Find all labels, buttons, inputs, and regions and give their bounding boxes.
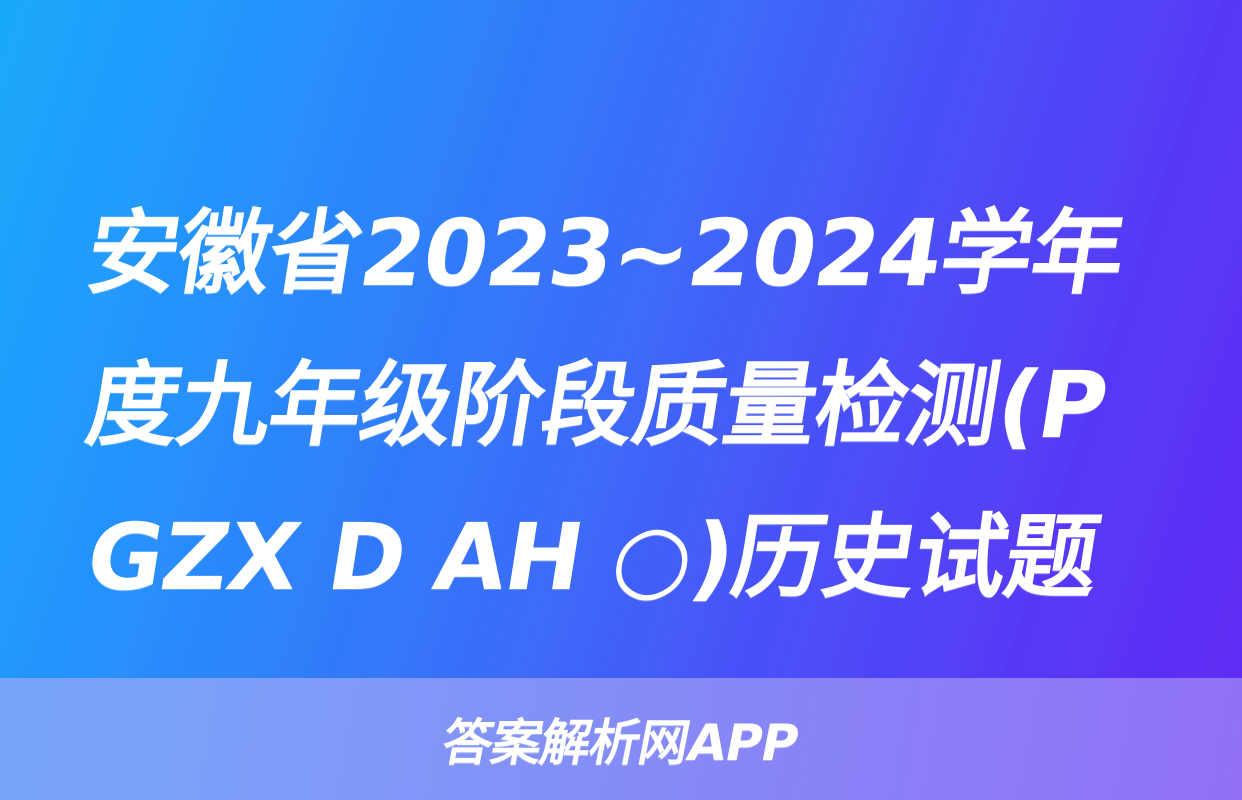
exam-title-card: 安徽省2023~2024学年 度九年级阶段质量检测(P GZX D AH ○)历… — [0, 0, 1242, 800]
title-line-2: 度九年级阶段质量检测(P — [76, 330, 1190, 482]
title-line-1: 安徽省2023~2024学年 — [76, 178, 1190, 330]
hero-gradient-panel: 安徽省2023~2024学年 度九年级阶段质量检测(P GZX D AH ○)历… — [0, 0, 1242, 678]
page-title: 安徽省2023~2024学年 度九年级阶段质量检测(P GZX D AH ○)历… — [88, 178, 1178, 634]
title-line-3: GZX D AH ○)历史试题 — [76, 482, 1190, 634]
footer-band: 答案解析网APP — [0, 678, 1242, 800]
app-watermark: 答案解析网APP — [437, 703, 805, 775]
